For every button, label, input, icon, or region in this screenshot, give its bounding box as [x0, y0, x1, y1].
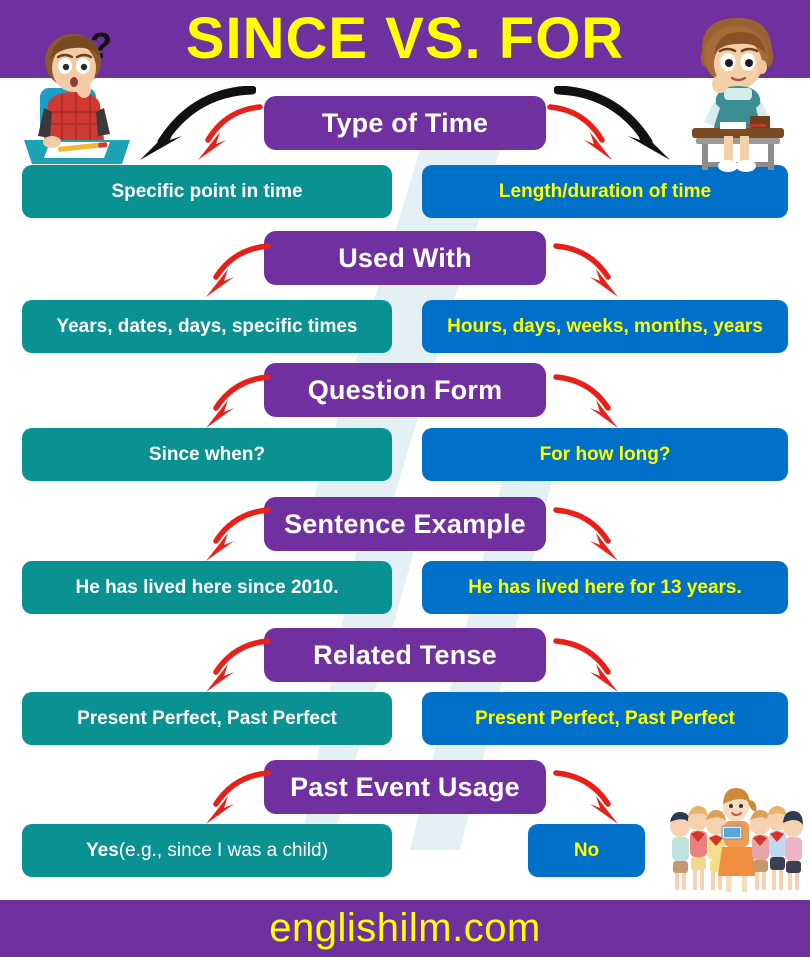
- red-arrow-right: [546, 104, 622, 162]
- site-url-label[interactable]: englishilm.com: [0, 900, 810, 957]
- category-chip-question-form[interactable]: Question Form: [264, 363, 546, 417]
- for-value-sentence-example[interactable]: He has lived here for 13 years.: [422, 561, 788, 614]
- category-chip-past-event-usage[interactable]: Past Event Usage: [264, 760, 546, 814]
- since-value-question-form[interactable]: Since when?: [22, 428, 392, 481]
- red-arrow-left-related-tense: [196, 638, 272, 694]
- since-value-related-tense[interactable]: Present Perfect, Past Perfect: [22, 692, 392, 745]
- infographic-page: SINCE VS. FOR ?: [0, 0, 810, 957]
- red-arrow-left-past-event-usage: [196, 770, 272, 826]
- black-arrow-left: [126, 86, 256, 162]
- thinking-boy-right-illustration: [672, 10, 800, 172]
- red-arrow-left-question-form: [196, 374, 272, 430]
- for-value-past-event-usage[interactable]: No: [528, 824, 645, 877]
- since-past-event-bold: Yes: [86, 840, 119, 862]
- thinking-boy-left-illustration: ?: [18, 16, 138, 174]
- teacher-with-students-illustration: [664, 782, 804, 894]
- red-arrow-right-related-tense: [552, 638, 628, 694]
- since-value-used-with[interactable]: Years, dates, days, specific times: [22, 300, 392, 353]
- since-value-sentence-example[interactable]: He has lived here since 2010.: [22, 561, 392, 614]
- since-value-past-event-usage[interactable]: Yes (e.g., since I was a child): [22, 824, 392, 877]
- for-value-type-of-time[interactable]: Length/duration of time: [422, 165, 788, 218]
- for-value-related-tense[interactable]: Present Perfect, Past Perfect: [422, 692, 788, 745]
- since-past-event-rest: (e.g., since I was a child): [119, 840, 328, 862]
- red-arrow-right-sentence-example: [552, 507, 628, 563]
- for-value-used-with[interactable]: Hours, days, weeks, months, years: [422, 300, 788, 353]
- category-chip-used-with[interactable]: Used With: [264, 231, 546, 285]
- category-chip-type-of-time[interactable]: Type of Time: [264, 96, 546, 150]
- category-chip-sentence-example[interactable]: Sentence Example: [264, 497, 546, 551]
- red-arrow-right-past-event-usage: [552, 770, 628, 826]
- red-arrow-right-question-form: [552, 374, 628, 430]
- category-chip-related-tense[interactable]: Related Tense: [264, 628, 546, 682]
- black-arrow-right: [554, 86, 684, 162]
- red-arrow-left-sentence-example: [196, 507, 272, 563]
- red-arrow-right-used-with: [552, 243, 628, 299]
- for-value-question-form[interactable]: For how long?: [422, 428, 788, 481]
- red-arrow-left: [188, 104, 264, 162]
- red-arrow-left-used-with: [196, 243, 272, 299]
